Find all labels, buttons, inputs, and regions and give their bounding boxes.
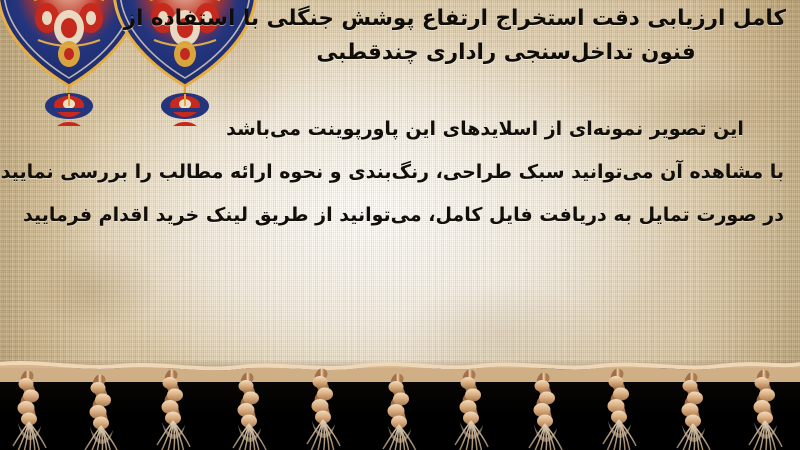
slide-body: این تصویر نمونه‌ای از اسلایدهای این پاور…	[14, 108, 784, 237]
carpet-fringe-tassels	[0, 352, 800, 450]
title-line-1: کامل ارزیابی دقت استخراج ارتفاع پوشش جنگ…	[106, 2, 786, 36]
slide-canvas: کامل ارزیابی دقت استخراج ارتفاع پوشش جنگ…	[0, 0, 800, 450]
slide-title: کامل ارزیابی دقت استخراج ارتفاع پوشش جنگ…	[106, 2, 786, 70]
body-line-2: با مشاهده آن می‌توانید سبک طراحی، رنگ‌بن…	[14, 151, 784, 194]
body-line-3: در صورت تمایل به دریافت فایل کامل، می‌تو…	[14, 194, 784, 237]
title-line-2: فنون تداخل‌سنجی راداری چندقطبی	[106, 36, 786, 70]
body-line-1: این تصویر نمونه‌ای از اسلایدهای این پاور…	[14, 108, 784, 151]
slide-text-layer: کامل ارزیابی دقت استخراج ارتفاع پوشش جنگ…	[0, 0, 800, 380]
